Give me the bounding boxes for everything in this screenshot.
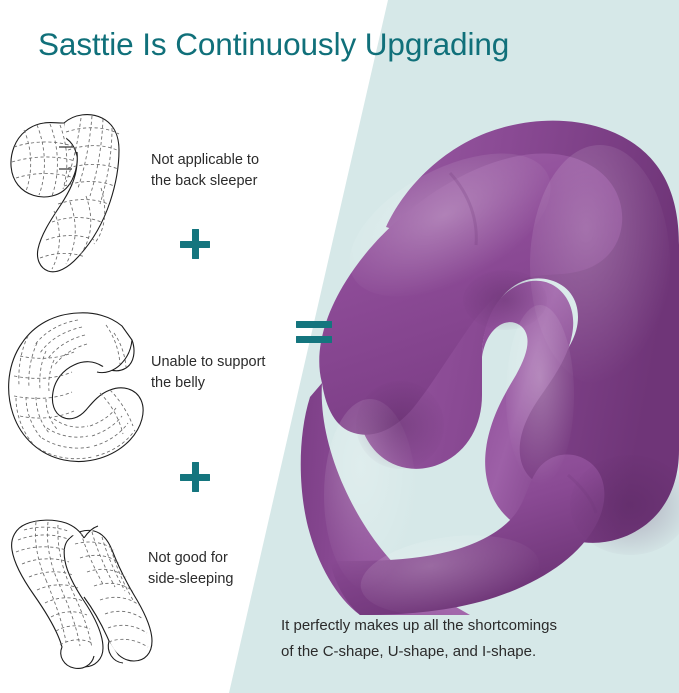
page-title: Sasttie Is Continuously Upgrading <box>38 26 658 63</box>
caption-u-shape: Not good for side-sleeping <box>148 548 300 590</box>
caption-u-line-1: Not good for <box>148 550 228 566</box>
caption-c-line-2: the belly <box>151 375 205 391</box>
footer-description: It perfectly makes up all the shortcomin… <box>281 613 661 665</box>
promo-graphic: Sasttie Is Continuously Upgrading <box>0 0 679 693</box>
u-shape-pillow-wireframe <box>2 500 162 680</box>
caption-c-shape: Unable to support the belly <box>151 352 303 394</box>
footer-line-1: It perfectly makes up all the shortcomin… <box>281 613 661 639</box>
equals-icon <box>296 321 332 343</box>
c-shape-pillow-wireframe <box>2 298 152 466</box>
caption-c-line-1: Unable to support <box>151 354 265 370</box>
caption-u-line-2: side-sleeping <box>148 571 233 587</box>
caption-j-line-1: Not applicable to <box>151 152 259 168</box>
j-shape-pillow-wireframe <box>2 92 152 290</box>
footer-line-2: of the C-shape, U-shape, and I-shape. <box>281 639 661 665</box>
caption-j-line-2: the back sleeper <box>151 173 257 189</box>
plus-icon <box>180 229 210 259</box>
plus-icon <box>180 462 210 492</box>
caption-j-shape: Not applicable to the back sleeper <box>151 150 303 192</box>
e-shape-pregnancy-pillow-image <box>300 95 679 615</box>
